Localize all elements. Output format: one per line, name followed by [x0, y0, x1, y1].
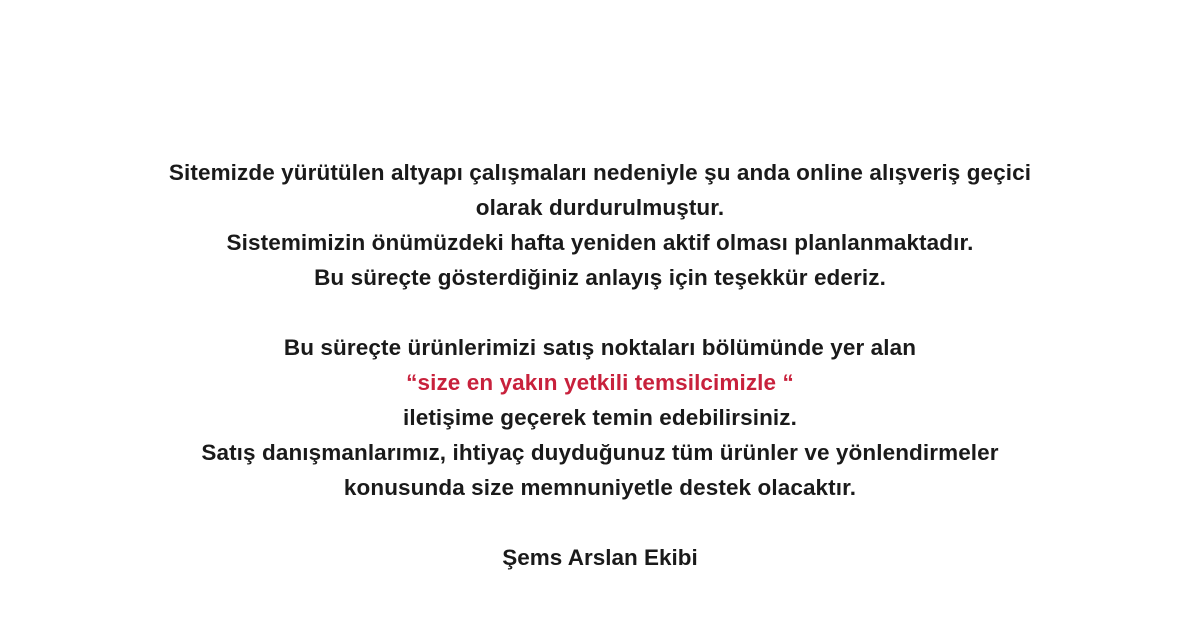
notice-paragraph1-line-1: Sitemizde yürütülen altyapı çalışmaları … [100, 155, 1100, 190]
paragraph-gap-2 [100, 505, 1100, 540]
notice-paragraph2-line-4: Satış danışmanlarımız, ihtiyaç duyduğunu… [100, 435, 1100, 470]
notice-paragraph1-line-2: olarak durdurulmuştur. [100, 190, 1100, 225]
notice-signature: Şems Arslan Ekibi [100, 540, 1100, 575]
notice-page: Sitemizde yürütülen altyapı çalışmaları … [0, 0, 1200, 628]
notice-paragraph1-line-3: Sistemimizin önümüzdeki hafta yeniden ak… [100, 225, 1100, 260]
notice-paragraph2-line-1: Bu süreçte ürünlerimizi satış noktaları … [100, 330, 1100, 365]
notice-paragraph2-line-5: konusunda size memnuniyetle destek olaca… [100, 470, 1100, 505]
notice-paragraph1-line-4: Bu süreçte gösterdiğiniz anlayış için te… [100, 260, 1100, 295]
notice-highlight-quote: “size en yakın yetkili temsilcimizle “ [100, 365, 1100, 400]
notice-text-block: Sitemizde yürütülen altyapı çalışmaları … [100, 155, 1100, 575]
notice-paragraph2-line-3: iletişime geçerek temin edebilirsiniz. [100, 400, 1100, 435]
paragraph-gap-1 [100, 295, 1100, 330]
